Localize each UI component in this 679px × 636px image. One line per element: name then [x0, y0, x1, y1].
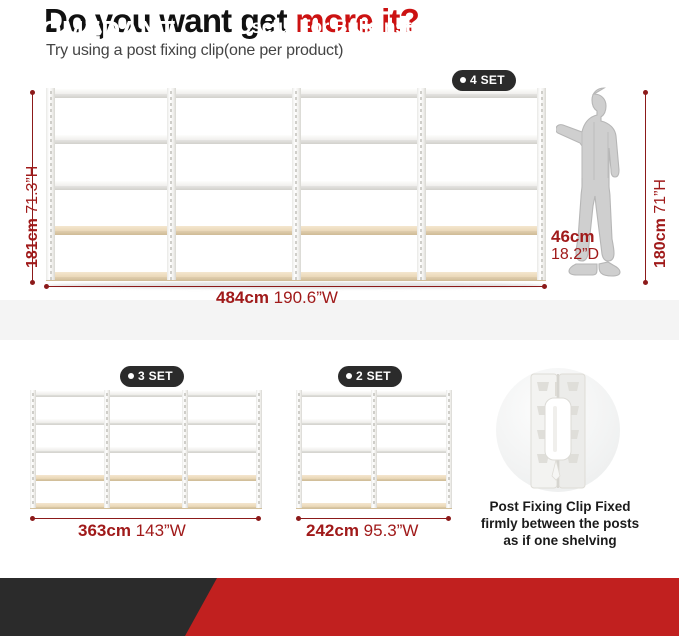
shelf-board	[107, 474, 184, 481]
post-perforation	[32, 393, 34, 396]
post-perforation	[420, 151, 422, 154]
post-perforation	[50, 133, 52, 136]
post-perforation	[50, 163, 52, 166]
post-perforation	[373, 483, 375, 486]
shelf-board	[171, 180, 296, 190]
post-perforation	[420, 253, 422, 256]
post-perforation	[170, 175, 172, 178]
post-perforation	[50, 205, 52, 208]
shelf-front-edge	[374, 507, 452, 509]
footer-red-panel	[0, 578, 679, 636]
post-perforation	[106, 477, 108, 480]
post-perforation	[50, 187, 52, 190]
person-height-dimension-label: 180cm 71”H	[652, 179, 670, 268]
post-perforation	[448, 405, 450, 408]
shelf-board	[296, 180, 421, 190]
post-perforation	[295, 235, 297, 238]
post-perforation	[541, 169, 543, 172]
post-perforation	[298, 477, 300, 480]
post-perforation	[50, 109, 52, 112]
shelf-board	[46, 134, 171, 144]
post-perforation	[541, 223, 543, 226]
post-perforation	[170, 127, 172, 130]
post-perforation	[184, 447, 186, 450]
set2-width-dimension-line	[298, 518, 450, 519]
post-perforation	[448, 489, 450, 492]
shelf-front-edge	[185, 451, 262, 453]
shelf-front-edge	[46, 277, 171, 281]
post-perforation	[295, 139, 297, 142]
post-perforation	[420, 229, 422, 232]
shelf-post	[371, 390, 377, 508]
post-perforation	[50, 235, 52, 238]
post-perforation	[50, 229, 52, 232]
shelf-board	[30, 446, 107, 453]
post-perforation	[106, 495, 108, 498]
post-perforation	[106, 501, 108, 504]
post-perforation	[32, 417, 34, 420]
post-perforation	[50, 181, 52, 184]
shelf-front-edge	[107, 423, 184, 425]
badge-4set: 4 SET	[452, 70, 516, 91]
post-perforation	[420, 169, 422, 172]
footer-bar	[0, 578, 679, 636]
post-perforation	[295, 133, 297, 136]
shelf-board	[374, 502, 452, 509]
post-perforation	[258, 411, 260, 414]
set3-width-dim-dot-left	[30, 516, 35, 521]
post-perforation	[170, 157, 172, 160]
shelf-post	[167, 88, 176, 280]
post-perforation	[420, 175, 422, 178]
shelf-front-edge	[421, 231, 546, 235]
post-perforation	[541, 91, 543, 94]
post-perforation	[298, 393, 300, 396]
set2-width-dimension-label: 242cm 95.3”W	[306, 521, 418, 541]
post-perforation	[541, 97, 543, 100]
post-perforation	[420, 109, 422, 112]
post-perforation	[295, 199, 297, 202]
post-perforation	[295, 247, 297, 250]
shelf-front-edge	[30, 423, 107, 425]
post-perforation	[541, 235, 543, 238]
post-perforation	[184, 459, 186, 462]
shelf-board	[107, 446, 184, 453]
post-perforation	[170, 181, 172, 184]
shelf-front-edge	[107, 395, 184, 397]
post-perforation	[50, 265, 52, 268]
shelf-board	[107, 502, 184, 509]
post-perforation	[184, 423, 186, 426]
post-perforation	[541, 145, 543, 148]
post-perforation	[298, 447, 300, 450]
post-perforation	[50, 91, 52, 94]
post-perforation	[50, 97, 52, 100]
hero-height-dim-dot-top	[30, 90, 35, 95]
shelf-board	[421, 225, 546, 235]
post-perforation	[448, 447, 450, 450]
post-perforation	[420, 241, 422, 244]
post-perforation	[170, 235, 172, 238]
post-perforation	[170, 115, 172, 118]
shelf-front-edge	[30, 395, 107, 397]
post-perforation	[295, 91, 297, 94]
post-perforation	[541, 139, 543, 142]
shelf-board	[30, 474, 107, 481]
post-perforation	[258, 435, 260, 438]
post-perforation	[420, 91, 422, 94]
post-perforation	[295, 187, 297, 190]
shelf-board	[171, 225, 296, 235]
post-perforation	[373, 441, 375, 444]
post-perforation	[373, 405, 375, 408]
post-perforation	[32, 435, 34, 438]
post-perforation	[373, 423, 375, 426]
post-perforation	[170, 109, 172, 112]
post-perforation	[258, 495, 260, 498]
post-perforation	[184, 489, 186, 492]
post-perforation	[541, 217, 543, 220]
post-perforation	[170, 97, 172, 100]
brand-logo: HOMΞDΔNT	[22, 15, 176, 46]
infographic-page: Do you want get more it? Try using a pos…	[0, 0, 679, 636]
shelf-front-edge	[296, 451, 374, 453]
post-perforation	[32, 447, 34, 450]
post-perforation	[258, 483, 260, 486]
set2-width-inch: 95.3”W	[364, 521, 419, 540]
shelf-front-edge	[30, 507, 107, 509]
set2-width-dim-dot-left	[296, 516, 301, 521]
hero-width-dimension-label: 484cm 190.6”W	[216, 288, 338, 308]
post-perforation	[420, 205, 422, 208]
shelf-front-edge	[185, 507, 262, 509]
post-perforation	[420, 193, 422, 196]
post-perforation	[295, 211, 297, 214]
shelf-front-edge	[421, 277, 546, 281]
post-perforation	[106, 453, 108, 456]
shelf-post	[446, 390, 452, 508]
post-perforation	[295, 277, 297, 280]
post-perforation	[258, 489, 260, 492]
set3-width-inch: 143”W	[136, 521, 186, 540]
post-perforation	[298, 423, 300, 426]
post-perforation	[170, 187, 172, 190]
post-perforation	[298, 435, 300, 438]
clip-caption-line-3: as if one shelving	[470, 532, 650, 549]
post-perforation	[420, 259, 422, 262]
post-perforation	[50, 169, 52, 172]
hero-height-dim-dot-bottom	[30, 280, 35, 285]
shelf-front-edge	[185, 395, 262, 397]
post-perforation	[184, 453, 186, 456]
post-perforation	[373, 435, 375, 438]
post-perforation	[373, 465, 375, 468]
post-perforation	[32, 423, 34, 426]
post-perforation	[420, 163, 422, 166]
post-perforation	[541, 271, 543, 274]
badge-4set-label: 4 SET	[470, 73, 505, 87]
post-perforation	[298, 465, 300, 468]
post-perforation	[295, 259, 297, 262]
post-perforation	[32, 453, 34, 456]
post-perforation	[420, 277, 422, 280]
post-perforation	[448, 471, 450, 474]
post-perforation	[170, 217, 172, 220]
post-perforation	[184, 393, 186, 396]
post-perforation	[420, 115, 422, 118]
post-perforation	[50, 241, 52, 244]
shelf-post	[30, 390, 36, 508]
badge-dot-icon	[460, 77, 466, 83]
shelf-board	[171, 271, 296, 281]
shelf-board	[185, 418, 262, 425]
post-perforation	[298, 399, 300, 402]
shelf-board	[374, 418, 452, 425]
shelf-board	[296, 134, 421, 144]
shelf-front-edge	[30, 479, 107, 481]
shelf-board	[421, 180, 546, 190]
post-perforation	[541, 151, 543, 154]
post-perforation	[373, 471, 375, 474]
post-perforation	[448, 393, 450, 396]
shelving-unit-4set	[46, 88, 546, 280]
post-perforation	[448, 465, 450, 468]
post-perforation	[184, 435, 186, 438]
post-perforation	[170, 145, 172, 148]
post-perforation	[448, 441, 450, 444]
post-perforation	[50, 151, 52, 154]
set3-width-dimension-label: 363cm 143”W	[78, 521, 186, 541]
shelf-front-edge	[296, 94, 421, 98]
post-perforation	[373, 459, 375, 462]
post-perforation	[50, 145, 52, 148]
post-perforation	[420, 103, 422, 106]
shelf-front-edge	[296, 395, 374, 397]
post-perforation	[184, 501, 186, 504]
shelf-board	[107, 390, 184, 397]
post-perforation	[373, 429, 375, 432]
hero-height-dimension-label: 181cm 71.3”H	[24, 166, 42, 268]
shelf-front-edge	[46, 186, 171, 190]
post-perforation	[420, 187, 422, 190]
footer-tagline: Useful For Bulk Installation & Industria…	[238, 17, 581, 39]
shelf-front-edge	[171, 277, 296, 281]
shelf-front-edge	[296, 507, 374, 509]
post-perforation	[170, 277, 172, 280]
post-perforation	[541, 241, 543, 244]
post-perforation	[106, 429, 108, 432]
post-perforation	[32, 465, 34, 468]
post-perforation	[373, 477, 375, 480]
hero-width-cm: 484cm	[216, 288, 269, 307]
shelf-board	[30, 418, 107, 425]
post-perforation	[298, 483, 300, 486]
post-perforation	[50, 193, 52, 196]
shelf-board	[296, 418, 374, 425]
post-perforation	[420, 199, 422, 202]
shelf-board	[374, 390, 452, 397]
shelf-front-edge	[421, 94, 546, 98]
post-perforation	[184, 429, 186, 432]
post-perforation	[32, 429, 34, 432]
post-perforation	[170, 271, 172, 274]
person-height-dim-dot-bottom	[643, 280, 648, 285]
hero-width-inch: 190.6”W	[274, 288, 338, 307]
post-fixing-clip-caption: Post Fixing Clip Fixed firmly between th…	[470, 498, 650, 549]
post-perforation	[184, 471, 186, 474]
post-perforation	[184, 465, 186, 468]
post-perforation	[106, 417, 108, 420]
post-perforation	[170, 223, 172, 226]
post-perforation	[32, 459, 34, 462]
post-perforation	[298, 417, 300, 420]
badge-2set-label: 2 SET	[356, 369, 391, 383]
shelving-unit-2set	[296, 390, 452, 508]
hero-height-cm: 181cm	[24, 218, 41, 268]
post-perforation	[32, 411, 34, 414]
hero-width-dim-dot-left	[44, 284, 49, 289]
post-perforation	[448, 399, 450, 402]
post-perforation	[295, 181, 297, 184]
post-perforation	[32, 489, 34, 492]
post-perforation	[50, 277, 52, 280]
post-perforation	[298, 459, 300, 462]
post-perforation	[258, 399, 260, 402]
post-perforation	[106, 399, 108, 402]
post-perforation	[50, 211, 52, 214]
post-perforation	[420, 247, 422, 250]
post-perforation	[170, 205, 172, 208]
shelf-front-edge	[46, 140, 171, 144]
post-perforation	[373, 501, 375, 504]
post-perforation	[170, 211, 172, 214]
post-perforation	[295, 115, 297, 118]
post-perforation	[295, 253, 297, 256]
post-perforation	[170, 199, 172, 202]
post-perforation	[373, 393, 375, 396]
shelf-board	[185, 446, 262, 453]
post-perforation	[170, 253, 172, 256]
post-perforation	[448, 429, 450, 432]
shelf-board	[46, 88, 171, 98]
post-perforation	[298, 405, 300, 408]
post-perforation	[258, 429, 260, 432]
post-perforation	[373, 489, 375, 492]
post-perforation	[106, 483, 108, 486]
post-perforation	[373, 447, 375, 450]
shelf-board	[374, 446, 452, 453]
post-perforation	[295, 193, 297, 196]
shelf-front-edge	[107, 451, 184, 453]
post-perforation	[184, 477, 186, 480]
post-perforation	[32, 501, 34, 504]
badge-dot-icon	[128, 373, 134, 379]
post-perforation	[295, 97, 297, 100]
post-perforation	[295, 265, 297, 268]
post-perforation	[184, 417, 186, 420]
post-perforation	[541, 277, 543, 280]
post-perforation	[448, 435, 450, 438]
shelf-board	[171, 88, 296, 98]
post-perforation	[373, 417, 375, 420]
post-perforation	[448, 411, 450, 414]
post-perforation	[295, 217, 297, 220]
post-perforation	[32, 405, 34, 408]
post-perforation	[448, 477, 450, 480]
logo-part-a-glyph: Δ	[121, 15, 140, 46]
post-perforation	[170, 229, 172, 232]
badge-3set-label: 3 SET	[138, 369, 173, 383]
post-perforation	[298, 411, 300, 414]
set2-width-dim-dot-right	[446, 516, 451, 521]
post-perforation	[50, 271, 52, 274]
post-perforation	[170, 259, 172, 262]
post-perforation	[258, 477, 260, 480]
post-perforation	[541, 133, 543, 136]
post-perforation	[184, 411, 186, 414]
shelf-front-edge	[107, 507, 184, 509]
post-perforation	[420, 145, 422, 148]
post-perforation	[184, 495, 186, 498]
shelf-front-edge	[296, 140, 421, 144]
post-perforation	[420, 181, 422, 184]
shelf-post	[292, 88, 301, 280]
shelf-board	[171, 134, 296, 144]
shelf-board	[296, 502, 374, 509]
post-perforation	[295, 163, 297, 166]
shelf-front-edge	[296, 231, 421, 235]
post-perforation	[295, 169, 297, 172]
shelf-board	[296, 88, 421, 98]
post-perforation	[420, 217, 422, 220]
clip-caption-line-1: Post Fixing Clip Fixed	[470, 498, 650, 515]
shelf-front-edge	[171, 94, 296, 98]
post-perforation	[295, 157, 297, 160]
logo-part-5: NT	[140, 15, 176, 46]
post-perforation	[32, 441, 34, 444]
shelf-board	[30, 390, 107, 397]
post-perforation	[420, 121, 422, 124]
post-perforation	[295, 241, 297, 244]
shelf-board	[421, 134, 546, 144]
post-perforation	[541, 175, 543, 178]
post-perforation	[170, 139, 172, 142]
post-perforation	[448, 459, 450, 462]
shelf-post	[256, 390, 262, 508]
shelf-front-edge	[171, 231, 296, 235]
post-perforation	[541, 163, 543, 166]
post-perforation	[50, 139, 52, 142]
post-perforation	[32, 495, 34, 498]
post-perforation	[50, 259, 52, 262]
post-perforation	[170, 241, 172, 244]
post-perforation	[258, 471, 260, 474]
post-perforation	[50, 247, 52, 250]
post-perforation	[258, 393, 260, 396]
shelving-unit-3set	[30, 390, 262, 508]
post-perforation	[170, 91, 172, 94]
post-perforation	[541, 265, 543, 268]
hero-width-dimension-line	[46, 286, 546, 287]
shelf-front-edge	[374, 479, 452, 481]
shelf-post	[417, 88, 426, 280]
shelf-front-edge	[30, 451, 107, 453]
clip-caption-line-2: firmly between the posts	[470, 515, 650, 532]
post-perforation	[420, 127, 422, 130]
shelf-front-edge	[296, 423, 374, 425]
post-perforation	[420, 271, 422, 274]
post-perforation	[184, 399, 186, 402]
